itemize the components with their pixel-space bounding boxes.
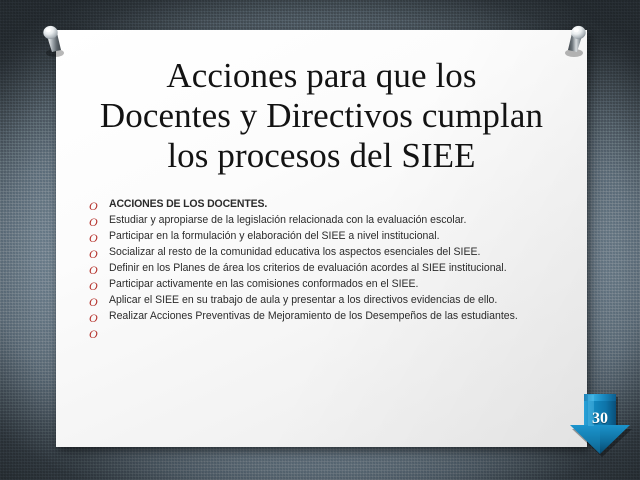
title-line-2: Docentes y Directivos cumplan [74, 96, 569, 136]
bullet-marker-icon: O [89, 326, 109, 341]
bullet-marker-icon: O [89, 214, 109, 229]
bullet-marker-icon: O [89, 278, 109, 293]
list-item: O ACCIONES DE LOS DOCENTES. [89, 198, 574, 213]
bullet-marker-icon: O [89, 198, 109, 213]
list-item: O Aplicar el SIEE en su trabajo de aula … [89, 294, 574, 309]
title-line-1: Acciones para que los [74, 56, 569, 96]
bullet-marker-icon: O [89, 310, 109, 325]
bullet-marker-icon: O [89, 294, 109, 309]
list-item: O Participar en la formulación y elabora… [89, 230, 574, 245]
bullet-list: O ACCIONES DE LOS DOCENTES. O Estudiar y… [89, 198, 574, 341]
list-item-label: Definir en los Planes de área los criter… [109, 262, 553, 276]
list-item: O Estudiar y apropiarse de la legislació… [89, 214, 574, 229]
list-item-label: Realizar Acciones Preventivas de Mejoram… [109, 310, 553, 324]
bullet-marker-icon: O [89, 262, 109, 277]
paper-card: Acciones para que los Docentes y Directi… [56, 30, 587, 447]
list-item-label: Socializar al resto de la comunidad educ… [109, 246, 553, 260]
page-title: Acciones para que los Docentes y Directi… [74, 56, 569, 176]
list-item: O Participar activamente en las comision… [89, 278, 574, 293]
list-item: O Realizar Acciones Preventivas de Mejor… [89, 310, 574, 325]
list-item: O [89, 326, 574, 340]
list-item-label: Participar en la formulación y elaboraci… [109, 230, 553, 244]
list-item: O Definir en los Planes de área los crit… [89, 262, 574, 277]
push-pin-icon [560, 22, 594, 60]
list-item-label: ACCIONES DE LOS DOCENTES. [109, 198, 553, 212]
list-item-label: Estudiar y apropiarse de la legislación … [109, 214, 553, 228]
bullet-marker-icon: O [89, 230, 109, 245]
bullet-marker-icon: O [89, 246, 109, 261]
list-item-label: Participar activamente en las comisiones… [109, 278, 553, 292]
list-item-label: Aplicar el SIEE en su trabajo de aula y … [109, 294, 553, 308]
down-arrow-icon: 30 [566, 392, 634, 458]
push-pin-icon [36, 22, 70, 60]
list-item: O Socializar al resto de la comunidad ed… [89, 246, 574, 261]
slide-canvas: Acciones para que los Docentes y Directi… [0, 0, 640, 480]
title-line-3: los procesos del SIEE [74, 136, 569, 176]
